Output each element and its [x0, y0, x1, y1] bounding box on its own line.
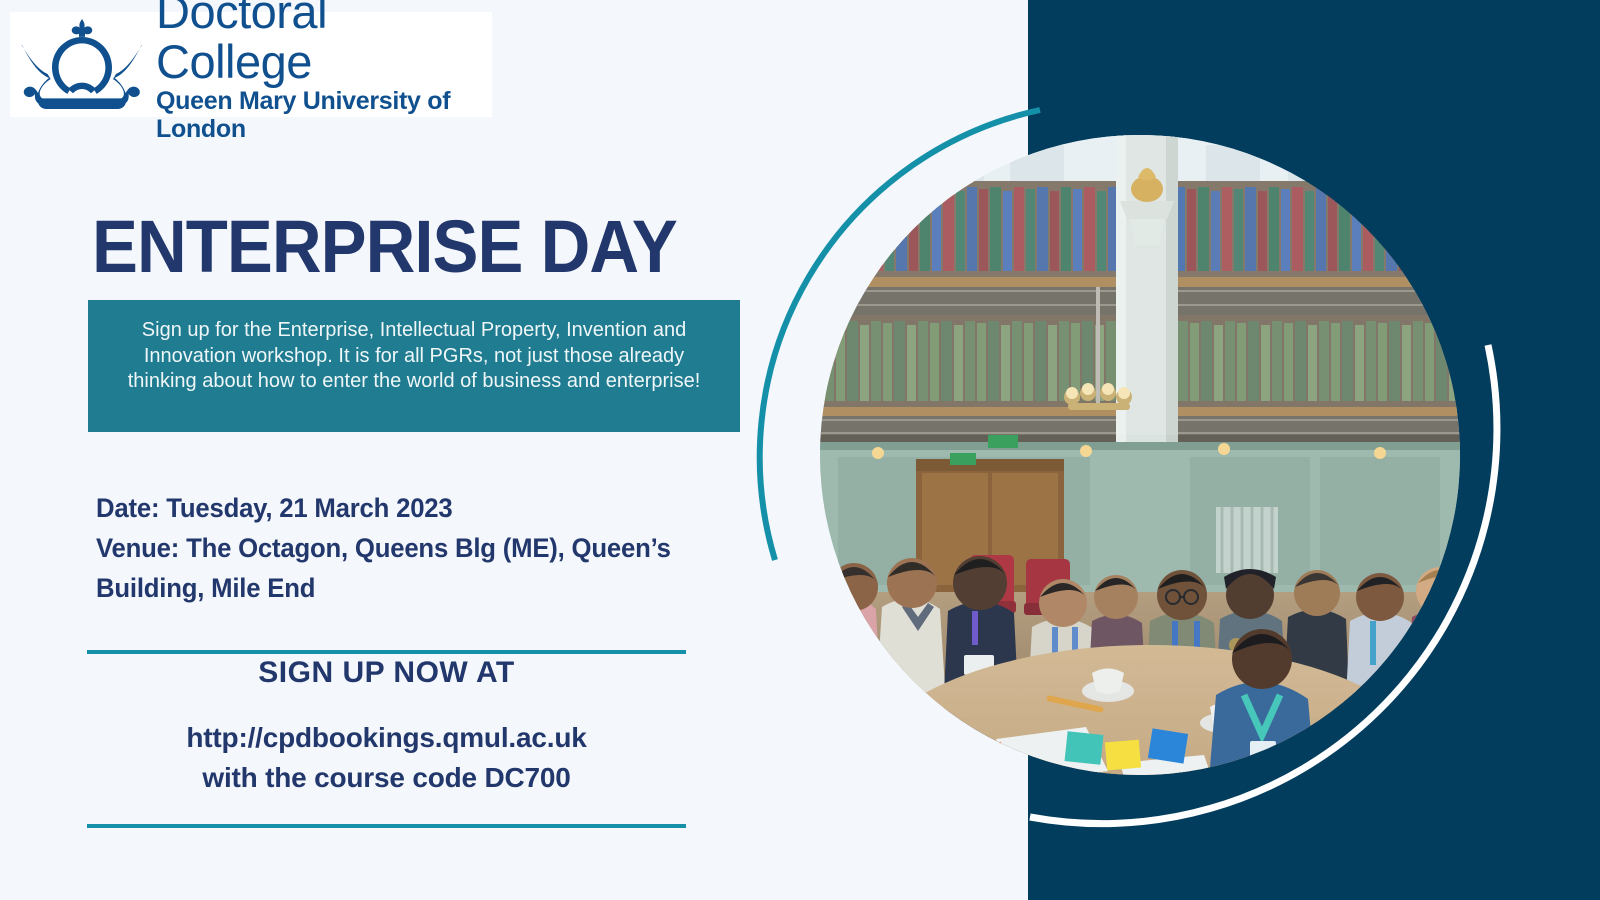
event-date: Date: Tuesday, 21 March 2023 [96, 488, 697, 528]
signup-details: http://cpdbookings.qmul.ac.uk with the c… [87, 718, 686, 798]
octagon-workshop-photo [820, 135, 1460, 775]
page-title: ENTERPRISE DAY [92, 209, 677, 285]
qmul-crown-q-icon [16, 17, 148, 113]
poster-canvas: Doctoral College Queen Mary University o… [0, 0, 1600, 900]
signup-url-link[interactable]: http://cpdbookings.qmul.ac.uk [87, 718, 686, 758]
description-text: Sign up for the Enterprise, Intellectual… [112, 318, 716, 395]
logo-wordmark: Doctoral College Queen Mary University o… [156, 0, 486, 143]
divider-top [87, 650, 686, 654]
description-box: Sign up for the Enterprise, Intellectual… [88, 300, 740, 432]
event-venue-line-2: Building, Mile End [96, 568, 697, 608]
qmul-doctoral-college-logo: Doctoral College Queen Mary University o… [10, 12, 492, 117]
logo-subtitle: Queen Mary University of London [156, 87, 486, 143]
divider-bottom [87, 824, 686, 828]
logo-title: Doctoral College [156, 0, 486, 87]
circular-photo [820, 135, 1460, 775]
photo-container [740, 0, 1600, 900]
signup-course-code: with the course code DC700 [87, 758, 686, 798]
signup-heading: SIGN UP NOW AT [87, 655, 686, 691]
event-venue-line-1: Venue: The Octagon, Queens Blg (ME), Que… [96, 528, 697, 568]
event-details: Date: Tuesday, 21 March 2023 Venue: The … [96, 488, 716, 608]
